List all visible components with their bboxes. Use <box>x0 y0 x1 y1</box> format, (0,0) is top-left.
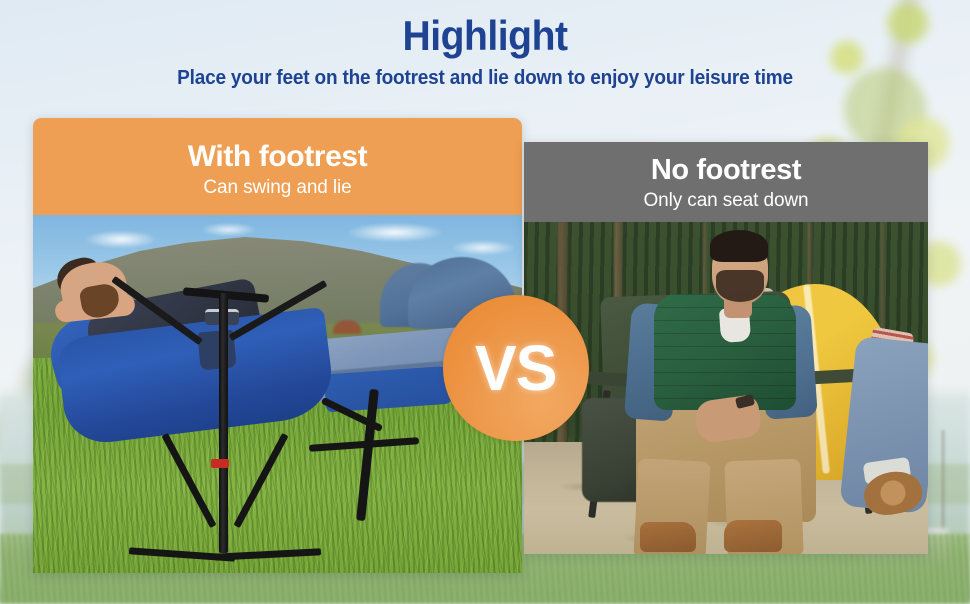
photo-left-far-tent-red <box>333 320 361 334</box>
panel-header-right: No footrest Only can seat down <box>524 142 928 222</box>
photo-right-boot-left <box>640 522 696 552</box>
photo-left-red-lock-tab <box>211 459 229 468</box>
panel-right-subtitle: Only can seat down <box>643 190 808 212</box>
title-block: Highlight Place your feet on the footres… <box>0 12 970 90</box>
photo-left-chair-center-pole <box>219 293 228 553</box>
page-subtitle: Place your feet on the footrest and lie … <box>24 67 946 90</box>
panel-right-title: No footrest <box>651 154 801 187</box>
panel-left-title: With footrest <box>188 140 368 175</box>
vs-badge: VS <box>443 295 589 441</box>
panel-header-left: With footrest Can swing and lie <box>33 118 522 215</box>
photo-right-person-hair <box>710 230 768 262</box>
vs-label: VS <box>475 331 557 405</box>
photo-right-person-beard <box>716 270 764 302</box>
photo-right-boot-right <box>724 520 782 552</box>
panel-left-subtitle: Can swing and lie <box>203 177 351 199</box>
page-title: Highlight <box>34 12 936 59</box>
